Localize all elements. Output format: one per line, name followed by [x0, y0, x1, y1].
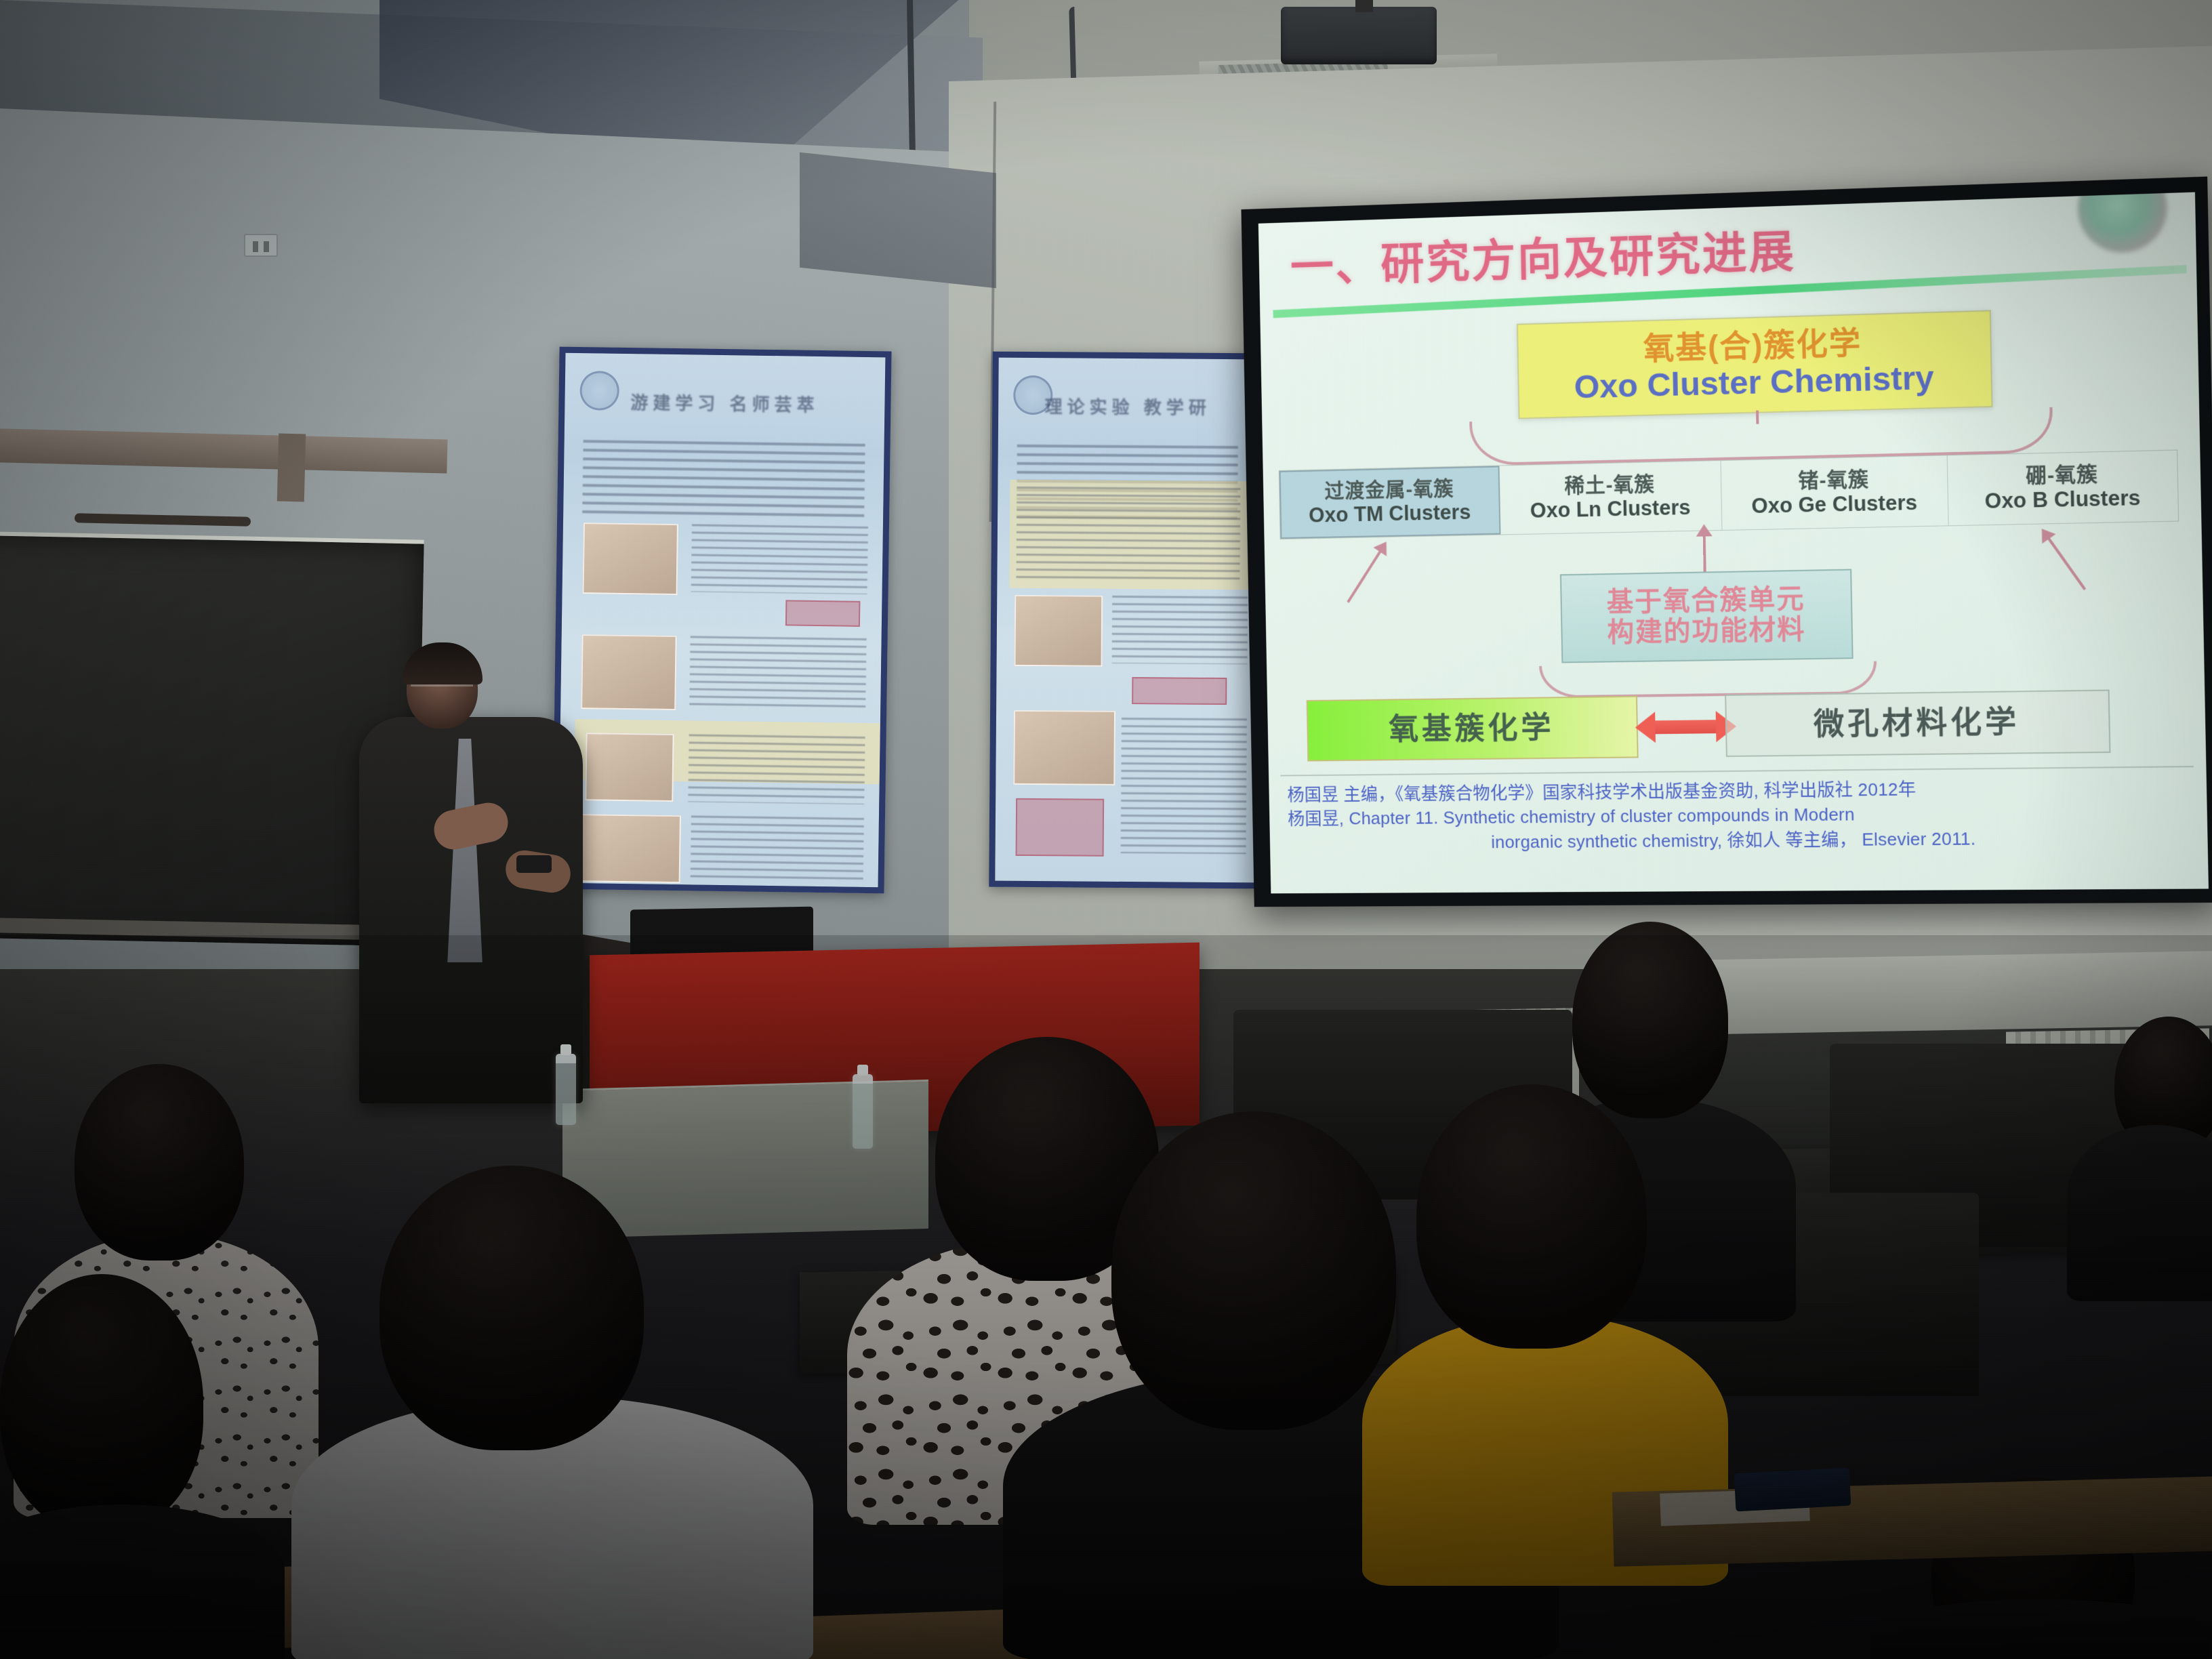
oxo-cluster-chem-green-box: 氧基簇化学: [1307, 696, 1639, 762]
oxo-cluster-chemistry-cn: 氧基(合)簇化学: [1643, 325, 1862, 366]
poster-text-block: [1112, 596, 1248, 664]
poster-left-title: 游建学习 名师芸萃: [565, 388, 884, 418]
functional-materials-line2: 构建的功能材料: [1607, 615, 1806, 648]
arrow-head-left: [1635, 712, 1656, 743]
wall-poster-left: 游建学习 名师芸萃: [552, 347, 891, 894]
poster-text-block: [691, 815, 864, 882]
oxo-cluster-chemistry-box: 氧基(合)簇化学 Oxo Cluster Chemistry: [1517, 310, 1993, 419]
cluster-ge-en: Oxo Ge Clusters: [1751, 491, 1917, 518]
wall-outlet[interactable]: [244, 234, 278, 257]
cluster-ge-cn: 锗-氧簇: [1798, 468, 1869, 493]
oxo-cluster-chemistry-en: Oxo Cluster Chemistry: [1574, 360, 1934, 407]
projector-ceiling-mount: [1355, 0, 1373, 12]
arrow-up-center-icon: [1703, 535, 1706, 571]
audience-head: [1111, 1111, 1396, 1430]
front-desk: [562, 1080, 928, 1238]
cluster-cell-tm: 过渡金属-氧簇 Oxo TM Clusters: [1279, 466, 1500, 539]
cluster-ln-cn: 稀土-氧簇: [1564, 473, 1655, 498]
wall-poster-right: 理论实验 教学研: [989, 352, 1264, 889]
arrow-diagonal-left-icon: [1347, 550, 1382, 603]
audience-head: [0, 1274, 203, 1532]
microporous-materials-box: 微孔材料化学: [1725, 689, 2110, 756]
poster-stamp: [1016, 798, 1105, 857]
poster-photo: [585, 733, 674, 802]
reference-divider: [1280, 766, 2193, 776]
audience-torso: [1870, 1599, 2209, 1659]
presenter-glasses-icon: [411, 684, 473, 695]
reference-block: 杨国昱 主编，《氧基簇合物化学》国家科技学术出版基金资助, 科学出版社 2012…: [1287, 774, 2191, 855]
audience-head: [75, 1064, 244, 1261]
water-bottle[interactable]: [853, 1074, 873, 1149]
cluster-cell-b: 硼-氧簇 Oxo B Clusters: [1947, 451, 2178, 526]
presentation-slide: 一、研究方向及研究进展 氧基(合)簇化学 Oxo Cluster Chemist…: [1258, 192, 2209, 894]
poster-stamp: [1132, 677, 1227, 705]
poster-text-block: [691, 524, 868, 594]
cluster-b-cn: 硼-氧簇: [2026, 464, 2098, 489]
cluster-ln-en: Oxo Ln Clusters: [1530, 495, 1691, 523]
poster-photo: [581, 634, 677, 710]
cluster-category-row: 过渡金属-氧簇 Oxo TM Clusters 稀土-氧簇 Oxo Ln Clu…: [1279, 450, 2179, 540]
poster-text-block: [689, 636, 866, 710]
presentation-remote[interactable]: [516, 855, 552, 873]
lecture-hall-scene: 游建学习 名师芸萃 理论实验 教学研 一、研究方向及研究进展: [0, 0, 2212, 1659]
cluster-cell-ln: 稀土-氧簇 Oxo Ln Clusters: [1499, 461, 1722, 535]
audience-head: [1572, 922, 1728, 1118]
functional-materials-box: 基于氧合簇单元 构建的功能材料: [1560, 569, 1853, 663]
poster-photo: [1013, 710, 1115, 785]
poster-body-text: [582, 440, 865, 518]
poster-photo: [579, 814, 681, 883]
poster-text-block: [1121, 718, 1247, 854]
cluster-cell-ge: 锗-氧簇 Oxo Ge Clusters: [1721, 455, 1949, 530]
functional-materials-line1: 基于氧合簇单元: [1606, 584, 1805, 618]
poster-right-title: 理论实验 教学研: [998, 393, 1257, 420]
audience-torso: [0, 1504, 285, 1659]
poster-text-block: [1016, 487, 1240, 583]
arrow-bar: [1654, 720, 1717, 734]
poster-text-block: [688, 734, 865, 804]
audience-torso: [2067, 1125, 2212, 1301]
poster-photo: [583, 523, 678, 595]
microporous-materials-label: 微孔材料化学: [1814, 705, 2020, 741]
projection-screen: 一、研究方向及研究进展 氧基(合)簇化学 Oxo Cluster Chemist…: [1241, 176, 2212, 907]
cluster-tm-en: Oxo TM Clusters: [1309, 500, 1471, 527]
blackboard-side-frame: [277, 434, 306, 502]
water-bottle[interactable]: [556, 1054, 576, 1125]
arrow-diagonal-right-icon: [2047, 537, 2087, 590]
poster-stamp: [785, 600, 861, 627]
audience-head: [380, 1166, 644, 1450]
audience-head: [1416, 1084, 1647, 1349]
oxo-cluster-chem-green-label: 氧基簇化学: [1389, 711, 1555, 747]
poster-photo: [1015, 595, 1103, 667]
wall-recess: [800, 152, 996, 288]
ceiling-projector: [1281, 7, 1437, 64]
notebook[interactable]: [1734, 1468, 1851, 1512]
double-headed-arrow-icon: [1635, 711, 1736, 743]
cluster-tm-cn: 过渡金属-氧簇: [1324, 478, 1454, 504]
cluster-b-en: Oxo B Clusters: [1984, 486, 2140, 514]
